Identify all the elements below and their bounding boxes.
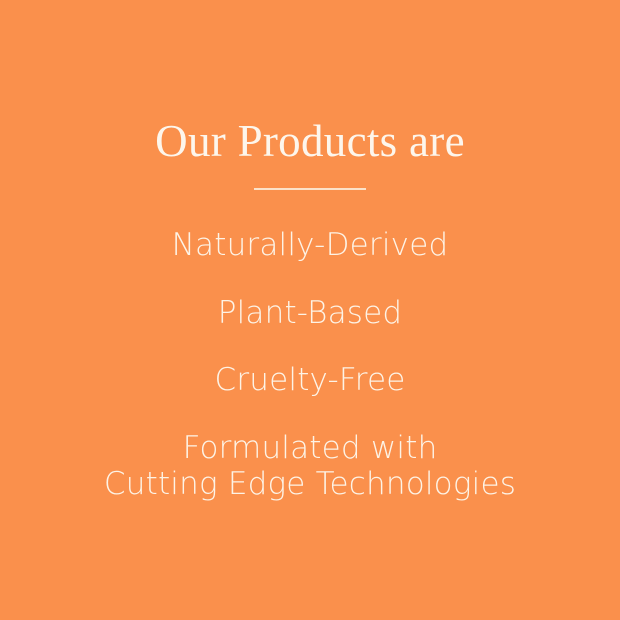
heading-divider [254, 188, 366, 190]
promo-poster: Our Products are Naturally-Derived Plant… [0, 0, 620, 620]
list-item: Plant-Based [0, 296, 620, 331]
page-title: Our Products are [0, 118, 620, 165]
list-item: Cruelty-Free [0, 363, 620, 398]
heading-divider-wrap [0, 188, 620, 190]
product-claims-list: Naturally-Derived Plant-Based Cruelty-Fr… [0, 228, 620, 503]
list-item-line-2: Cutting Edge Technologies [0, 467, 620, 503]
list-item-line-1: Formulated with [0, 431, 620, 467]
list-item: Naturally-Derived [0, 228, 620, 263]
list-item: Formulated with Cutting Edge Technologie… [0, 431, 620, 503]
